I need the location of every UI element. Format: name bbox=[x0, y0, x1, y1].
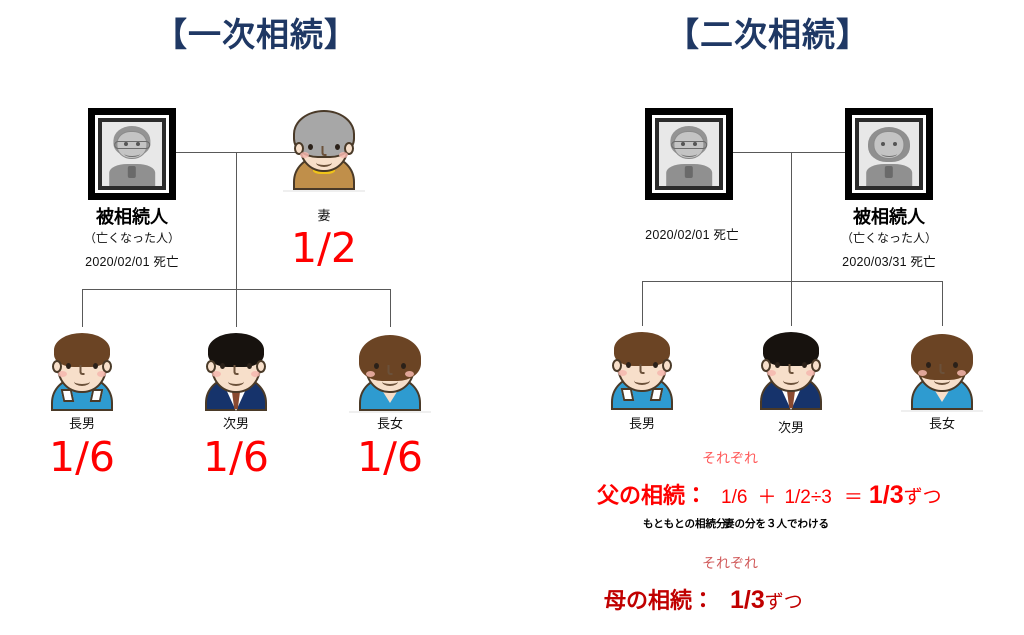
child-drop-secondary-2 bbox=[791, 281, 792, 326]
father-formula-note-term2: 妻の分を３人でわける bbox=[724, 516, 829, 531]
child-name-label-3: 長女 bbox=[340, 416, 440, 432]
decedent-role-label: 被相続人 bbox=[62, 206, 202, 229]
child-drop-secondary-3 bbox=[942, 281, 943, 326]
child-share-1: 1/6 bbox=[32, 437, 132, 478]
child-drop-primary-2 bbox=[236, 289, 237, 327]
child-drop-primary-1 bbox=[82, 289, 83, 327]
young-woman-icon bbox=[348, 327, 432, 423]
spouse-share: 1/2 bbox=[274, 228, 374, 269]
father-formula-op1: ＋ bbox=[757, 487, 776, 508]
young-man-polo-icon bbox=[600, 326, 684, 422]
mother-death-date: 2020/03/31 死亡 bbox=[809, 255, 969, 271]
mother-role-label: 被相続人 bbox=[819, 206, 959, 229]
descent-line-primary bbox=[236, 152, 237, 289]
decedent-death-date: 2020/02/01 死亡 bbox=[52, 255, 212, 271]
mother-formula-row: 母の相続：1/3ずつ bbox=[604, 583, 803, 615]
secondary-panel-title: 【二次相続】 bbox=[512, 8, 1024, 56]
mother-formula-suffix: ずつ bbox=[765, 592, 803, 613]
father-formula-each-note: それぞれ bbox=[702, 448, 758, 468]
memorial-photo-mother-icon bbox=[845, 108, 933, 200]
child-name-label-2: 次男 bbox=[186, 416, 286, 432]
primary-panel-title: 【一次相続】 bbox=[0, 8, 512, 56]
secondary-inheritance-panel: 【二次相続】 2020/02/01 死亡 bbox=[512, 0, 1024, 635]
father-formula-lead: 父の相続： bbox=[597, 483, 707, 508]
elderly-woman-icon bbox=[282, 106, 366, 202]
decedent-role-sub: （亡くなった人） bbox=[62, 231, 202, 246]
memorial-photo-father-icon bbox=[88, 108, 176, 200]
child-name-label-1: 長男 bbox=[32, 416, 132, 432]
child-name-label-2: 次男 bbox=[741, 420, 841, 436]
father-death-date: 2020/02/01 死亡 bbox=[612, 228, 772, 244]
mother-role-sub: （亡くなった人） bbox=[819, 231, 959, 246]
young-man-polo-icon bbox=[40, 327, 124, 423]
father-formula-equals: ＝ bbox=[844, 487, 863, 508]
child-name-label-3: 長女 bbox=[892, 416, 992, 432]
mother-formula-lead: 母の相続： bbox=[604, 588, 714, 613]
young-man-suit-icon bbox=[194, 327, 278, 423]
memorial-photo-father-icon bbox=[645, 108, 733, 200]
father-formula-result: 1/3 bbox=[869, 481, 904, 509]
father-formula-note-term1: もともとの相続分 bbox=[643, 516, 726, 531]
child-drop-secondary-1 bbox=[642, 281, 643, 326]
child-name-label-1: 長男 bbox=[592, 416, 692, 432]
mother-formula-result: 1/3 bbox=[730, 586, 765, 614]
young-man-suit-icon bbox=[749, 326, 833, 422]
young-woman-icon bbox=[900, 326, 984, 422]
child-share-2: 1/6 bbox=[186, 437, 286, 478]
spouse-name-label: 妻 bbox=[274, 208, 374, 224]
father-formula-row: 父の相続：1/6＋1/2÷3＝1/3ずつ bbox=[597, 478, 942, 510]
primary-inheritance-panel: 【一次相続】 被相続人 （亡くなった人） 2020/02/01 死亡 bbox=[0, 0, 512, 635]
child-share-3: 1/6 bbox=[340, 437, 440, 478]
descent-line-secondary bbox=[791, 152, 792, 297]
father-formula-suffix: ずつ bbox=[904, 487, 942, 508]
father-formula-term2: 1/2÷3 bbox=[784, 487, 831, 508]
father-formula-term1: 1/6 bbox=[721, 487, 747, 508]
child-drop-primary-3 bbox=[390, 289, 391, 327]
sibling-bar-secondary bbox=[642, 281, 942, 282]
mother-formula-each-note: それぞれ bbox=[702, 553, 758, 573]
